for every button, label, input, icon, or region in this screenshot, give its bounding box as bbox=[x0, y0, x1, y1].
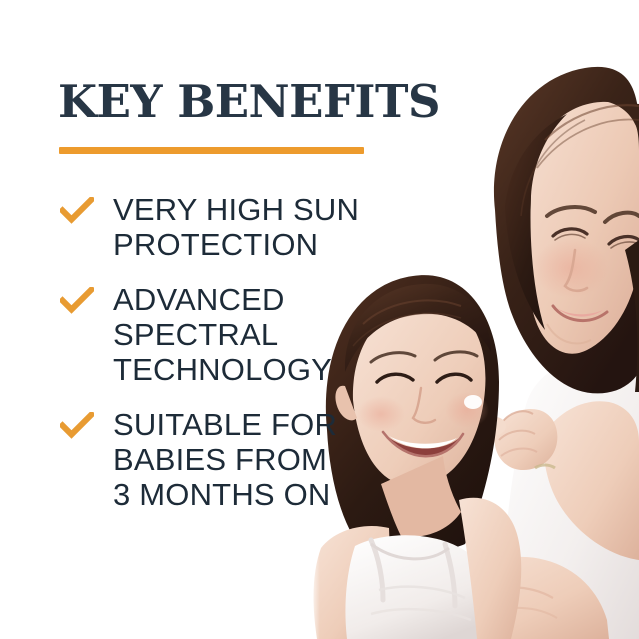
key-benefits-banner: KEY BENEFITS VERY HIGH SUN PROTECTION AD… bbox=[0, 0, 639, 639]
check-icon bbox=[60, 287, 94, 315]
benefit-item-2: ADVANCED SPECTRAL TECHNOLOGY bbox=[0, 282, 400, 387]
mother-hand bbox=[484, 401, 639, 560]
mother-arm-lower bbox=[449, 557, 609, 639]
benefit-label: VERY HIGH SUN PROTECTION bbox=[113, 192, 359, 262]
benefit-item-3: SUITABLE FOR BABIES FROM 3 MONTHS ON bbox=[0, 407, 400, 512]
title-underline-rule bbox=[59, 147, 364, 154]
benefit-label: SUITABLE FOR BABIES FROM 3 MONTHS ON bbox=[113, 407, 337, 512]
check-icon bbox=[60, 197, 94, 225]
mother-figure bbox=[494, 67, 639, 639]
benefits-list: VERY HIGH SUN PROTECTION ADVANCED SPECTR… bbox=[0, 192, 400, 532]
benefit-item-1: VERY HIGH SUN PROTECTION bbox=[0, 192, 400, 262]
text-column: KEY BENEFITS VERY HIGH SUN PROTECTION AD… bbox=[0, 0, 400, 639]
check-icon bbox=[60, 412, 94, 440]
page-title: KEY BENEFITS bbox=[58, 76, 440, 128]
benefit-label: ADVANCED SPECTRAL TECHNOLOGY bbox=[113, 282, 332, 387]
